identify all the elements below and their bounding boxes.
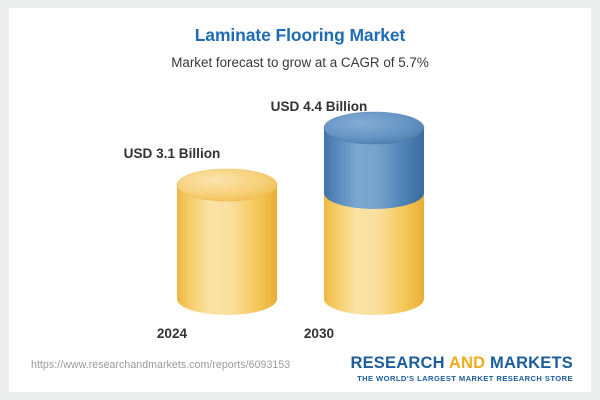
infographic-card: Laminate Flooring Market Market forecast… (9, 8, 591, 392)
logo-word-markets: MARKETS (485, 354, 573, 372)
report-url[interactable]: https://www.researchandmarkets.com/repor… (31, 359, 290, 371)
chart-plot-area: USD 3.1 Billion (9, 8, 591, 392)
bar-year-label-2030: 2030 (219, 326, 419, 341)
logo-tagline: THE WORLD'S LARGEST MARKET RESEARCH STOR… (350, 374, 573, 384)
bar-value-label-2024: USD 3.1 Billion (72, 146, 272, 161)
logo-word-and: AND (449, 354, 485, 372)
bar-body-base-2030 (324, 193, 424, 315)
market-infographic: Laminate Flooring Market Market forecast… (0, 0, 600, 400)
bar-cylinder-2024 (172, 168, 282, 320)
research-and-markets-logo[interactable]: RESEARCH AND MARKETS THE WORLD'S LARGEST… (350, 354, 573, 384)
logo-word-research: RESEARCH (350, 354, 448, 372)
bar-body-2024 (177, 185, 277, 315)
bar-cylinder-2030 (317, 111, 431, 320)
footer: https://www.researchandmarkets.com/repor… (9, 348, 591, 392)
logo-wordmark: RESEARCH AND MARKETS (350, 354, 573, 373)
